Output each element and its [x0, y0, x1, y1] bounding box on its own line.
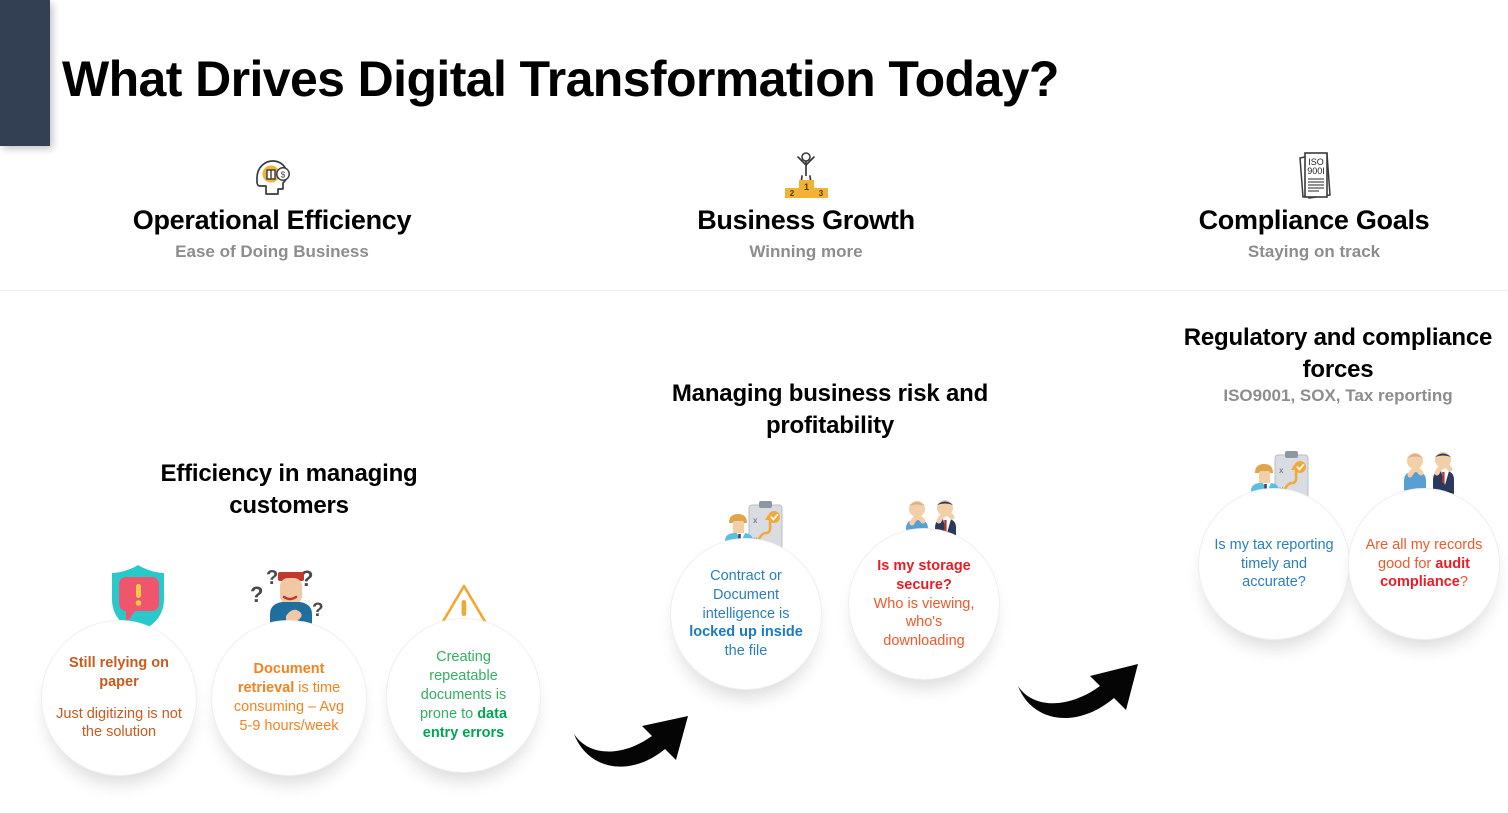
bubble-text: Document retrieval is time consuming – A… [212, 660, 366, 735]
pillar-business-growth[interactable]: 1 2 3 Business Growth Winning more [606, 146, 1006, 262]
bubble-still-relying-on-paper[interactable]: Still relying on paper Just digitizing i… [41, 620, 197, 776]
corner-accent-block [0, 0, 50, 146]
svg-text:3: 3 [819, 189, 824, 198]
svg-text:?: ? [250, 582, 263, 607]
page-title: What Drives Digital Transformation Today… [62, 50, 1059, 108]
bubble-data-entry-errors[interactable]: Creating repeatable documents is prone t… [386, 618, 541, 773]
pillar-row: $ Operational Efficiency Ease of Doing B… [0, 146, 1508, 290]
bubble-contract-intelligence[interactable]: Contract or Document intelligence is loc… [670, 538, 822, 690]
bubble-text: Contract or Document intelligence is loc… [671, 567, 821, 661]
svg-text:?: ? [312, 600, 324, 621]
pillar-title: Business Growth [606, 206, 1006, 236]
section-heading-regulatory: Regulatory and compliance forces [1178, 322, 1498, 385]
iso-9001-documents-icon: ISO 900I [1114, 146, 1508, 202]
bubble-text: Still relying on paper Just digitizing i… [42, 654, 196, 742]
pillar-subtitle: Winning more [606, 242, 1006, 262]
section-heading-efficiency: Efficiency in managing customers [105, 458, 473, 521]
progress-arrow-2 [1012, 638, 1160, 728]
head-idea-money-icon: $ [72, 146, 472, 202]
bubble-body: Just digitizing is not the solution [56, 705, 182, 743]
bubble-highlight: locked up inside [689, 624, 803, 640]
bubble-document-retrieval[interactable]: Document retrieval is time consuming – A… [211, 620, 367, 776]
bubble-headline: Still relying on paper [56, 654, 182, 692]
bubble-audit-compliance[interactable]: Are all my records good for audit compli… [1348, 488, 1500, 640]
pillar-compliance-goals[interactable]: ISO 900I Compliance Goals Staying on tra… [1114, 146, 1508, 262]
section-subheading-regulatory: ISO9001, SOX, Tax reporting [1178, 386, 1498, 406]
bubble-tax-reporting[interactable]: Is my tax reporting timely and accurate? [1198, 488, 1350, 640]
bubble-text: Is my storage secure? Who is viewing, wh… [849, 557, 999, 651]
bubble-body-tail: the file [725, 643, 768, 659]
bubble-storage-secure[interactable]: Is my storage secure? Who is viewing, wh… [848, 528, 1000, 680]
svg-text:?: ? [266, 567, 278, 589]
bubble-text: Are all my records good for audit compli… [1349, 536, 1499, 593]
pillar-subtitle: Ease of Doing Business [72, 242, 472, 262]
svg-text:x: x [1279, 466, 1284, 475]
slide-root: What Drives Digital Transformation Today… [0, 0, 1508, 813]
pillar-operational-efficiency[interactable]: $ Operational Efficiency Ease of Doing B… [72, 146, 472, 262]
pillar-subtitle: Staying on track [1114, 242, 1508, 262]
pillar-title: Operational Efficiency [72, 206, 472, 236]
svg-text:1: 1 [804, 182, 809, 192]
progress-arrow-1 [568, 686, 708, 776]
section-heading-risk: Managing business risk and profitability [630, 378, 1030, 441]
winner-podium-icon: 1 2 3 [606, 146, 1006, 202]
bubble-body-tail: ? [1460, 574, 1468, 590]
svg-text:900I: 900I [1307, 166, 1325, 176]
svg-text:2: 2 [790, 189, 795, 198]
bubble-text: Is my tax reporting timely and accurate? [1199, 536, 1349, 593]
bubble-text: Creating repeatable documents is prone t… [387, 648, 540, 742]
pillar-title: Compliance Goals [1114, 206, 1508, 236]
bubble-headline: Is my storage secure? [863, 557, 985, 595]
section-divider [0, 290, 1508, 291]
svg-text:x: x [753, 516, 758, 525]
svg-text:$: $ [281, 170, 286, 179]
bubble-body: Who is viewing, who's downloading [863, 595, 985, 652]
bubble-body: Contract or Document intelligence is [702, 568, 789, 622]
